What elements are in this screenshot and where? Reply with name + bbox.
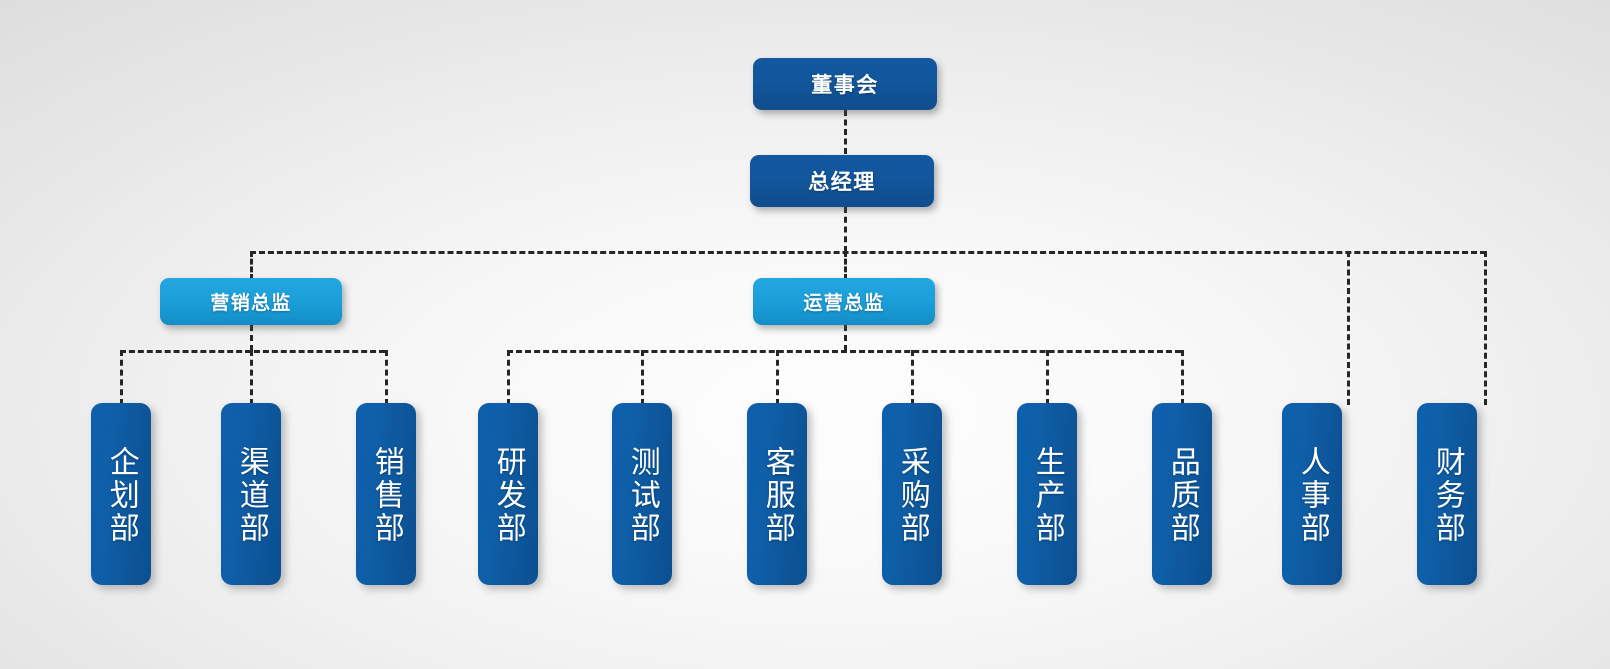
node-department-shengchan-label: 生产部 xyxy=(1027,446,1067,545)
node-department-qudao[interactable]: 渠道部 xyxy=(221,403,281,585)
connector-gm-stem xyxy=(844,207,847,252)
connector-drop-ceshi xyxy=(641,350,644,405)
node-department-yanfa-label: 研发部 xyxy=(488,446,528,545)
node-department-renshi[interactable]: 人事部 xyxy=(1282,403,1342,585)
node-department-renshi-label: 人事部 xyxy=(1292,446,1332,545)
node-department-caiwu[interactable]: 财务部 xyxy=(1417,403,1477,585)
node-board[interactable]: 董事会 xyxy=(753,58,937,110)
connector-operations-branch-bus xyxy=(507,350,1181,353)
node-department-qudao-label: 渠道部 xyxy=(231,446,271,545)
node-marketing-director-label: 营销总监 xyxy=(210,288,291,315)
connector-bus-to-operations-director xyxy=(844,251,847,280)
connector-drop-caigou xyxy=(911,350,914,405)
connector-drop-xiaoshou xyxy=(385,350,388,405)
node-department-pinzhi-label: 品质部 xyxy=(1162,446,1202,545)
node-department-ceshi[interactable]: 测试部 xyxy=(612,403,672,585)
node-department-qihua-label: 企划部 xyxy=(101,446,141,545)
node-general-manager-label: 总经理 xyxy=(808,166,876,196)
connector-drop-yanfa xyxy=(507,350,510,405)
node-operations-director[interactable]: 运营总监 xyxy=(753,278,935,325)
node-department-ceshi-label: 测试部 xyxy=(622,446,662,545)
node-general-manager[interactable]: 总经理 xyxy=(750,155,934,207)
node-department-pinzhi[interactable]: 品质部 xyxy=(1152,403,1212,585)
node-department-shengchan[interactable]: 生产部 xyxy=(1017,403,1077,585)
node-board-label: 董事会 xyxy=(811,69,879,99)
node-department-kefu-label: 客服部 xyxy=(757,446,797,545)
node-department-yanfa[interactable]: 研发部 xyxy=(478,403,538,585)
connector-drop-pinzhi xyxy=(1181,350,1184,405)
org-chart-canvas: 董事会 总经理 营销总监 运营总监 企划部 渠道部 销售部 研发部 测试部 客服… xyxy=(0,0,1610,669)
connector-operations-director-stem xyxy=(844,325,847,351)
connector-drop-qudao xyxy=(250,350,253,405)
node-department-qihua[interactable]: 企划部 xyxy=(91,403,151,585)
connector-drop-shengchan xyxy=(1046,350,1049,405)
connector-main-bus xyxy=(250,251,1486,254)
node-department-caigou-label: 采购部 xyxy=(892,446,932,545)
node-operations-director-label: 运营总监 xyxy=(803,288,884,315)
connector-bus-to-finance-department xyxy=(1484,251,1487,405)
connector-drop-qihua xyxy=(120,350,123,405)
node-department-caigou[interactable]: 采购部 xyxy=(882,403,942,585)
connector-marketing-director-stem xyxy=(250,325,253,351)
node-department-kefu[interactable]: 客服部 xyxy=(747,403,807,585)
connector-bus-to-hr-department xyxy=(1347,251,1350,405)
node-department-xiaoshou-label: 销售部 xyxy=(366,446,406,545)
connector-drop-kefu xyxy=(776,350,779,405)
connector-board-to-gm xyxy=(844,110,847,154)
node-department-caiwu-label: 财务部 xyxy=(1427,446,1467,545)
connector-bus-to-marketing-director xyxy=(250,251,253,280)
node-marketing-director[interactable]: 营销总监 xyxy=(160,278,342,325)
node-department-xiaoshou[interactable]: 销售部 xyxy=(356,403,416,585)
